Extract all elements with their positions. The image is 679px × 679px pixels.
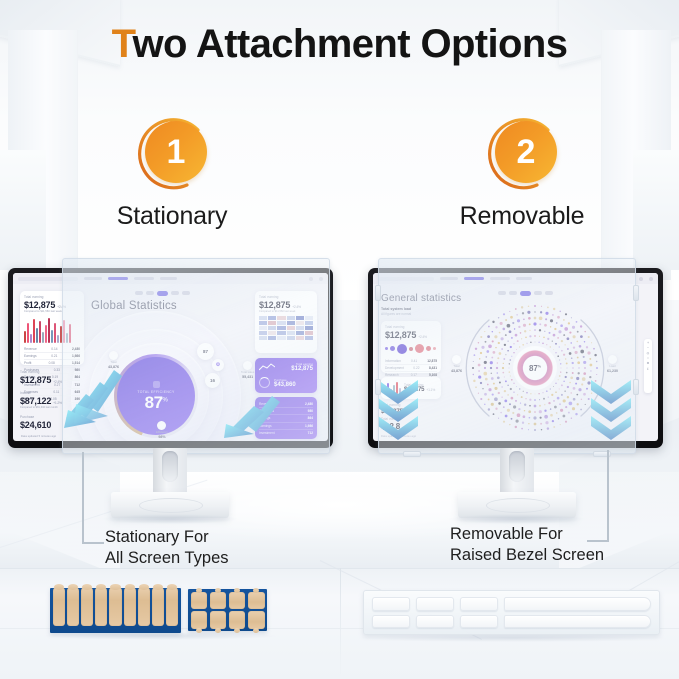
adhesive-strip (81, 587, 93, 626)
option-label-2: Removable (392, 202, 652, 231)
side-stat-dot (452, 355, 461, 364)
range-1y[interactable] (545, 291, 553, 295)
side-stat-load-right: Load 61,230 (607, 355, 618, 373)
adhesive-strip (53, 587, 65, 626)
monitor-left: Global Statistics TOTAL EFFICIENCY 87% 8… (8, 268, 333, 448)
sheet-slot (416, 615, 454, 629)
legend-row: Development0.228,431 (385, 365, 437, 372)
minus-icon[interactable]: − (647, 347, 649, 350)
menu-icon[interactable] (319, 277, 323, 281)
screen-subtitle-right: Total system load All figures are normal (381, 307, 411, 316)
card-value: $12,875+2.4% (24, 300, 80, 310)
range-1y[interactable] (182, 291, 190, 295)
range-1d[interactable] (135, 291, 143, 295)
settings-icon[interactable]: ⚙ (647, 362, 650, 365)
sheet-slot (372, 615, 410, 629)
arrow-cluster-left-2 (220, 394, 290, 440)
search-bar[interactable] (378, 277, 434, 281)
sparkline-icon (259, 363, 275, 371)
adhesive-strip (95, 587, 107, 626)
side-stat-dot (608, 355, 617, 364)
adhesive-tab (248, 611, 265, 628)
download-icon[interactable]: ↧ (647, 368, 650, 371)
side-stat-dot (243, 361, 252, 370)
range-1w[interactable] (146, 291, 154, 295)
range-selector-left[interactable] (135, 291, 190, 296)
adhesive-strip (138, 587, 150, 626)
stand-shadow (101, 514, 239, 524)
arrow-chevrons-left (376, 380, 456, 442)
adhesive-strip (109, 587, 121, 626)
close-icon[interactable] (639, 277, 643, 281)
wall-notch-left (0, 150, 46, 270)
range-1w[interactable] (509, 291, 517, 295)
stand-shadow (448, 514, 586, 524)
burst-value: 87% (529, 364, 541, 373)
adhesive-tab (191, 592, 208, 609)
sheet-slot (416, 597, 454, 611)
infographic-canvas: Two Attachment Options 1 Stationary 2 Re… (0, 0, 679, 679)
range-selector-right[interactable] (498, 291, 553, 296)
range-1m[interactable] (520, 291, 531, 296)
side-stat-total-right: Total 43,876 (451, 355, 462, 373)
chip-gear-icon[interactable]: ⚙ (212, 359, 224, 371)
adhesive-tabs-grid[interactable] (188, 589, 267, 631)
table-row: Revenue0.142,480 (24, 346, 80, 353)
dashboard-toolbar-right[interactable] (373, 273, 658, 284)
callout-bracket-left (82, 452, 106, 544)
adhesive-strip (67, 587, 79, 626)
adhesive-tab (191, 611, 208, 628)
tab-analytics[interactable] (160, 277, 177, 280)
badge-number-1: 1 (145, 121, 207, 183)
tab-reports[interactable] (516, 277, 532, 280)
chip-value-87[interactable]: 87 (197, 343, 214, 360)
legend-row: Information0.4112,875 (385, 358, 437, 365)
card-earning-right[interactable]: Total earning $12,875+2.4% Compared to $… (255, 291, 317, 353)
tab-overview[interactable] (464, 277, 484, 280)
bubble-chart (385, 344, 437, 354)
adhesive-tab (210, 592, 227, 609)
clear-mounting-sheet[interactable] (363, 590, 660, 635)
adhesive-strip (152, 587, 164, 626)
tab-dashboard[interactable] (134, 277, 154, 280)
adhesive-tab (210, 611, 227, 628)
adhesive-tab (229, 592, 246, 609)
sheet-slot (460, 615, 498, 629)
range-3m[interactable] (171, 291, 179, 295)
close-icon[interactable] (309, 277, 313, 281)
floor-seam (340, 568, 341, 679)
heatmap-grid (259, 316, 313, 340)
page-title: Two Attachment Options (0, 22, 679, 67)
menu-icon[interactable] (649, 277, 653, 281)
title-accent-letter: T (112, 22, 133, 66)
arrow-chevrons-right (573, 380, 653, 442)
side-stat-sales: Total sales 55,431 (241, 361, 254, 379)
adhesive-strips-vertical[interactable] (50, 588, 181, 633)
tab-statistics[interactable] (84, 277, 102, 280)
caption-left: Stationary For All Screen Types (105, 527, 229, 569)
screen-title-right: General statistics (381, 293, 461, 304)
stand-neck (500, 448, 534, 494)
option-label-1: Stationary (42, 202, 302, 231)
range-1m[interactable] (157, 291, 168, 296)
target-icon[interactable]: ◎ (647, 352, 650, 355)
stand-neck (153, 448, 187, 494)
tab-statistics[interactable] (440, 277, 458, 280)
accessory-shadow-left (44, 632, 276, 640)
card-purple-earning[interactable]: Total earning $12,875 Purchase $43,860 (255, 358, 317, 393)
search-bar[interactable] (18, 277, 78, 281)
badge-number-2: 2 (495, 121, 557, 183)
pin-icon[interactable]: ○ (647, 357, 649, 360)
dashboard-toolbar-left[interactable] (13, 273, 328, 284)
tab-dashboard[interactable] (490, 277, 510, 280)
card-bubbles[interactable]: Total earning $12,875+2.4% Information0.… (381, 321, 441, 373)
range-1d[interactable] (498, 291, 506, 295)
sheet-slot (372, 597, 410, 611)
caption-right: Removable For Raised Bezel Screen (450, 524, 604, 566)
sheet-slot-long (504, 597, 651, 611)
adhesive-tab (248, 592, 265, 609)
plus-icon[interactable]: + (647, 342, 649, 345)
footer-note-left: Data updated 5 minutes ago (21, 435, 56, 439)
burst-center-gauge: 87% (513, 346, 557, 390)
donut-icon (259, 377, 270, 388)
bar-chart-mini (24, 317, 80, 343)
screen-title-left: Global Statistics (91, 300, 177, 312)
sheet-slot-long (504, 615, 651, 629)
adhesive-strip (124, 587, 136, 626)
adhesive-tab (229, 611, 246, 628)
tab-overview[interactable] (108, 277, 128, 280)
range-3m[interactable] (534, 291, 542, 295)
sheet-slot (460, 597, 498, 611)
accessory-shadow-right (358, 634, 666, 642)
option-badge-2: 2 (477, 108, 567, 198)
table-row: Earnings0.211,986 (24, 353, 80, 360)
monitor-right: General statistics Total system load All… (368, 268, 663, 448)
arrow-cluster-left (56, 366, 176, 438)
title-text: wo Attachment Options (133, 22, 568, 66)
option-badge-1: 1 (127, 108, 217, 198)
chip-value-16[interactable]: 16 (205, 373, 220, 388)
card-total-earning[interactable]: Total earning $12,875+2.4% Compared to $… (20, 291, 84, 365)
side-stat-dot (109, 351, 118, 360)
adhesive-strip (166, 587, 178, 626)
